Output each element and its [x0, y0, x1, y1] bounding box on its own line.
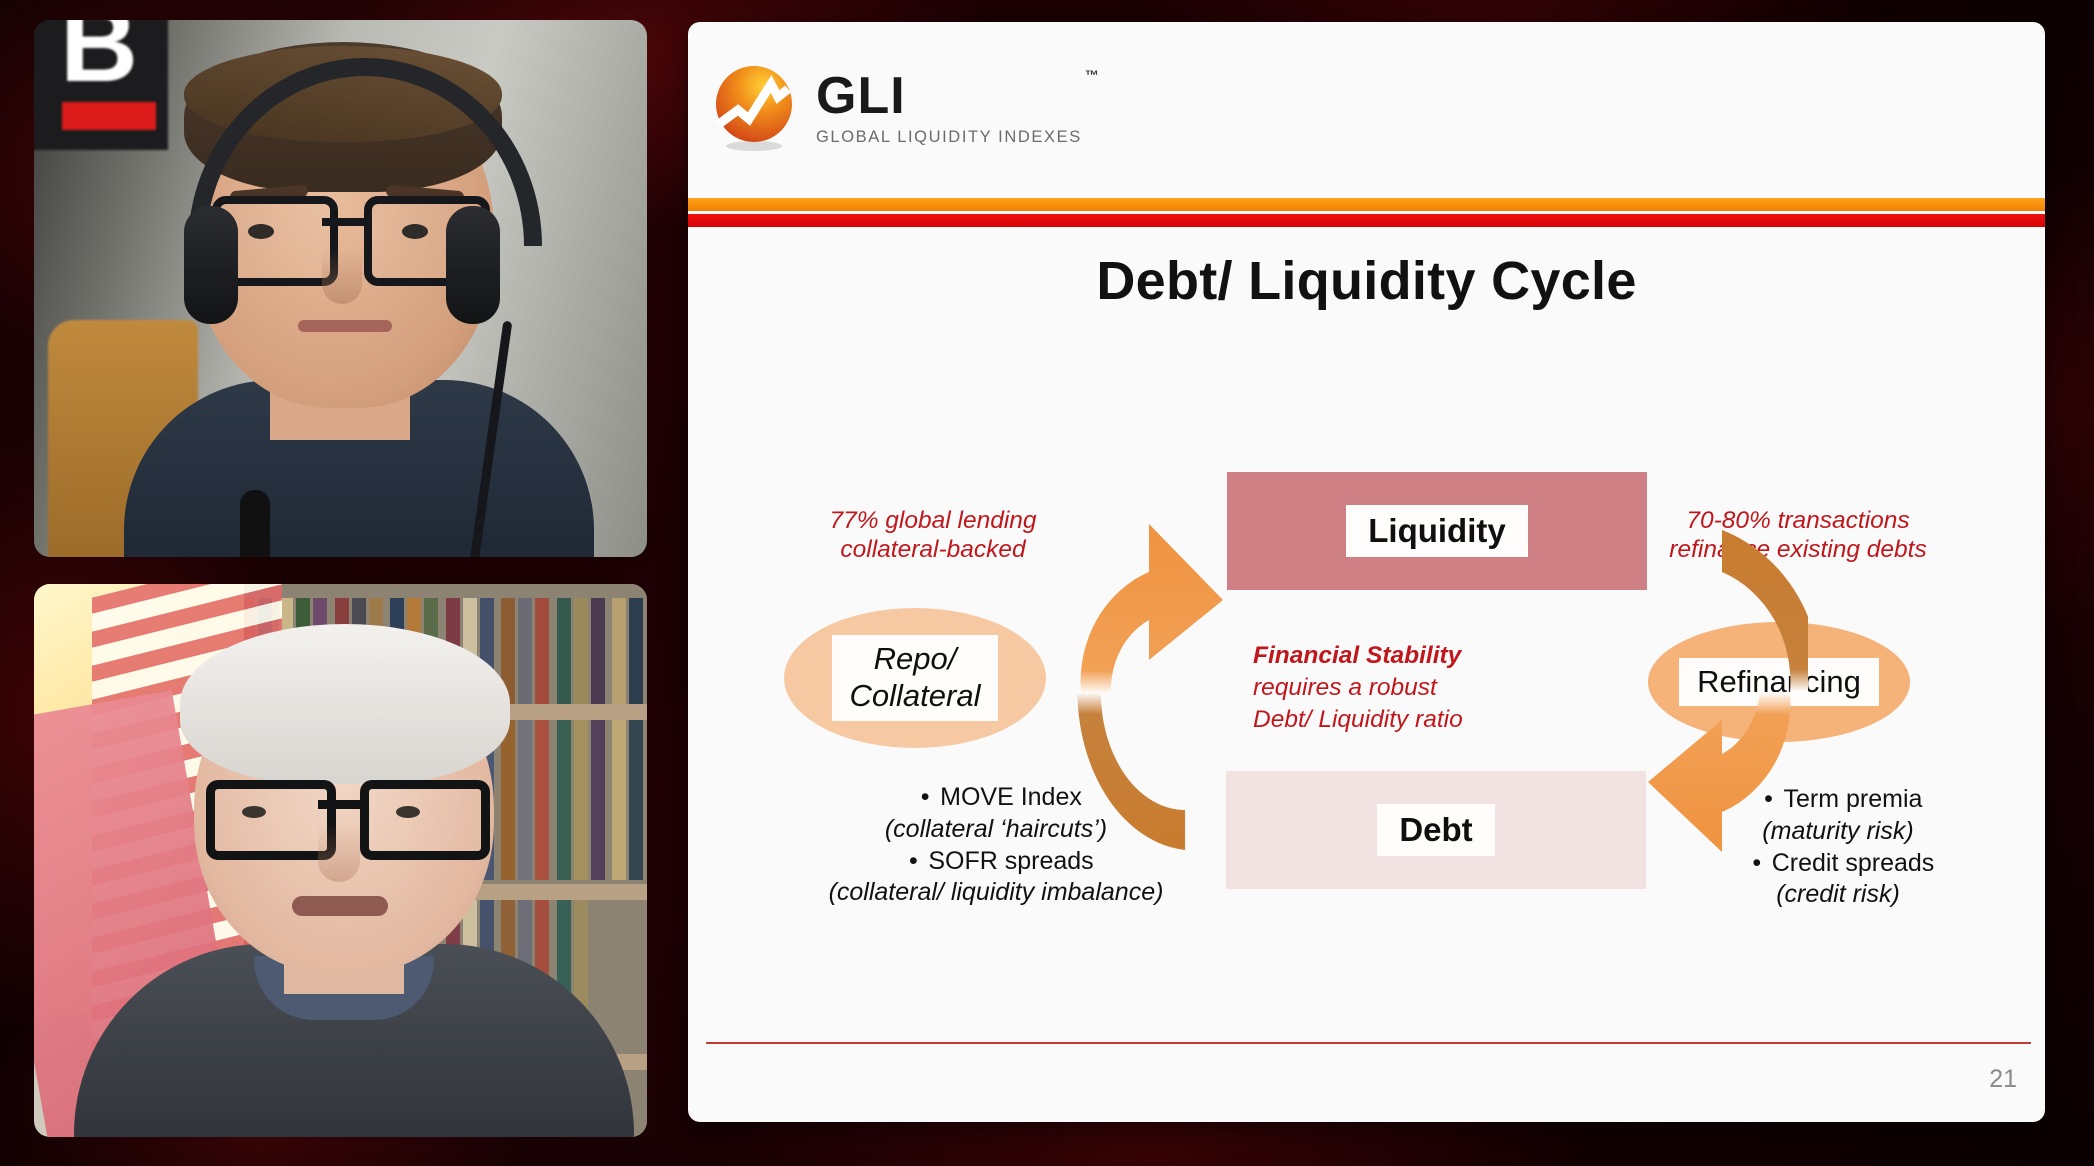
eye-left [242, 806, 266, 818]
eye-right [396, 806, 420, 818]
bullet-dot-icon: • [1754, 784, 1784, 816]
glasses-lens-right [360, 780, 490, 860]
video-tile-speaker-top[interactable]: B [34, 20, 647, 557]
bullet-sub: (maturity risk) [1688, 816, 1988, 848]
hair [180, 624, 510, 784]
bullet-dot-icon: • [1742, 848, 1772, 880]
mouth [292, 896, 388, 916]
note-center-line3: Debt/ Liquidity ratio [1253, 706, 1463, 733]
gli-globe-icon [708, 62, 800, 154]
repo-collateral-ellipse[interactable]: Repo/ Collateral [784, 608, 1046, 748]
trademark-icon: ™ [1085, 68, 1100, 82]
gli-logo: GLI™ GLOBAL LIQUIDITY INDEXES [708, 62, 1082, 154]
bullet-sub: (credit risk) [1688, 879, 1988, 911]
presentation-slide[interactable]: GLI™ GLOBAL LIQUIDITY INDEXES Debt/ Liqu… [688, 22, 2045, 1122]
repo-line-1: Repo/ [874, 641, 957, 676]
nose [322, 248, 362, 304]
bullet-dot-icon: • [898, 846, 928, 878]
bullet-main: Credit spreads [1772, 849, 1935, 877]
right-bullet-list: •Term premia (maturity risk) •Credit spr… [1688, 784, 1988, 911]
header-red-bar [688, 214, 2045, 227]
debt-label: Debt [1377, 804, 1494, 856]
note-left: 77% global lending collateral-backed [788, 507, 1078, 564]
repo-line-2: Collateral [850, 678, 981, 713]
list-item: •Credit spreads [1688, 848, 1988, 880]
left-bullet-list: •MOVE Index (collateral ‘haircuts’) •SOF… [816, 782, 1176, 909]
microphone [240, 490, 270, 557]
nose [318, 824, 360, 882]
list-item: •MOVE Index [816, 782, 1176, 814]
glasses-bridge [318, 800, 360, 809]
footer-divider [706, 1042, 2031, 1044]
headphone-cup-left [184, 206, 238, 324]
bullet-main: MOVE Index [940, 783, 1082, 811]
list-item: •Term premia [1688, 784, 1988, 816]
bullet-dot-icon: • [910, 782, 940, 814]
liquidity-label: Liquidity [1346, 505, 1527, 557]
video-feed: B [34, 20, 647, 557]
note-center: Financial Stability requires a robust De… [1253, 640, 1513, 736]
gli-subtitle: GLOBAL LIQUIDITY INDEXES [816, 129, 1082, 146]
bullet-main: SOFR spreads [928, 847, 1093, 875]
page-number: 21 [1989, 1065, 2017, 1094]
glasses-lens-left [206, 780, 336, 860]
bullet-main: Term premia [1784, 785, 1923, 813]
mouth [298, 320, 392, 332]
page-title: Debt/ Liquidity Cycle [688, 250, 2045, 312]
poster-red-bar [62, 102, 156, 130]
header-orange-bar [688, 198, 2045, 211]
gli-title: GLI™ [816, 70, 1082, 122]
note-center-line2: requires a robust [1253, 674, 1437, 701]
video-feed [34, 584, 647, 1137]
bullet-sub: (collateral ‘haircuts’) [816, 814, 1176, 846]
repo-collateral-label: Repo/ Collateral [832, 635, 999, 720]
note-center-bold: Financial Stability [1253, 640, 1513, 672]
video-tile-speaker-bottom[interactable] [34, 584, 647, 1137]
headphone-cup-right [446, 206, 500, 324]
gli-wordmark: GLI™ GLOBAL LIQUIDITY INDEXES [816, 70, 1082, 146]
list-item: •SOFR spreads [816, 846, 1176, 878]
debt-box[interactable]: Debt [1226, 771, 1646, 889]
poster-letter: B [60, 20, 134, 96]
bullet-sub: (collateral/ liquidity imbalance) [816, 877, 1176, 909]
liquidity-box[interactable]: Liquidity [1227, 472, 1647, 590]
